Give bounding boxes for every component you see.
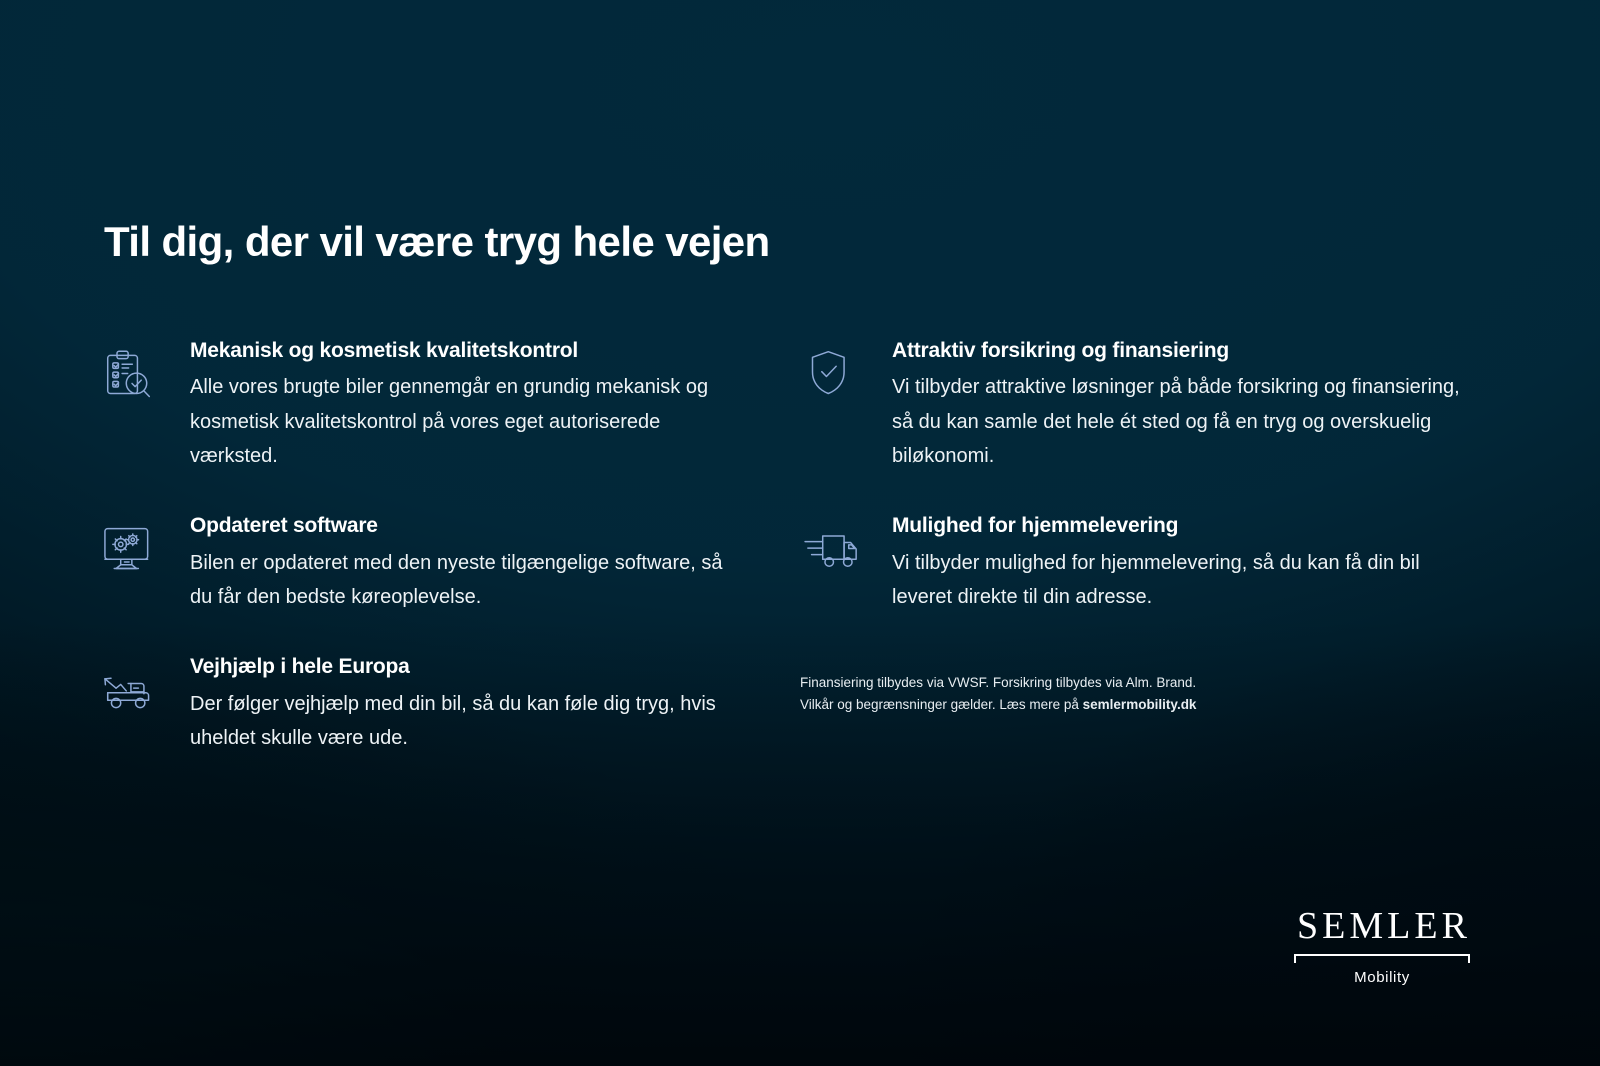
- page-title: Til dig, der vil være tryg hele vejen: [104, 218, 770, 266]
- feature-title: Mulighed for hjemmelevering: [892, 513, 1460, 539]
- disclaimer-line-2: Vilkår og begrænsninger gælder. Læs mere…: [800, 694, 1320, 716]
- semler-mobility-logo: SEMLER Mobility: [1282, 907, 1482, 986]
- feature-insurance-financing: Attraktiv forsikring og finansiering Vi …: [800, 338, 1460, 473]
- shield-check-icon: [800, 348, 864, 400]
- feature-title: Mekanisk og kosmetisk kvalitetskontrol: [190, 338, 748, 364]
- feature-title: Opdateret software: [190, 513, 748, 539]
- feature-home-delivery: Mulighed for hjemmelevering Vi tilbyder …: [800, 513, 1460, 614]
- logo-wordmark: SEMLER: [1282, 907, 1482, 945]
- monitor-gears-icon: [98, 523, 162, 575]
- feature-description: Alle vores brugte biler gennemgår en gru…: [190, 370, 748, 473]
- feature-roadside-assistance: Vejhjælp i hele Europa Der følger vejhjæ…: [98, 654, 748, 755]
- feature-description: Vi tilbyder attraktive løsninger på både…: [892, 370, 1460, 473]
- logo-rule-tick-left: [1294, 954, 1296, 963]
- disclaimer-text: Finansiering tilbydes via VWSF. Forsikri…: [800, 672, 1320, 716]
- feature-description: Bilen er opdateret med den nyeste tilgæn…: [190, 546, 748, 615]
- disclaimer-line-2-prefix: Vilkår og begrænsninger gælder. Læs mere…: [800, 697, 1083, 712]
- delivery-truck-icon: [800, 523, 864, 575]
- feature-column-left: Mekanisk og kosmetisk kvalitetskontrol A…: [98, 338, 748, 755]
- feature-description: Vi tilbyder mulighed for hjemmelevering,…: [892, 546, 1460, 615]
- logo-rule-tick-right: [1468, 954, 1470, 963]
- feature-updated-software: Opdateret software Bilen er opdateret me…: [98, 513, 748, 614]
- feature-quality-control: Mekanisk og kosmetisk kvalitetskontrol A…: [98, 338, 748, 473]
- logo-subtitle: Mobility: [1282, 969, 1482, 986]
- feature-title: Vejhjælp i hele Europa: [190, 654, 748, 680]
- clipboard-check-magnifier-icon: [98, 348, 162, 400]
- feature-description: Der følger vejhjælp med din bil, så du k…: [190, 687, 748, 756]
- feature-title: Attraktiv forsikring og finansiering: [892, 338, 1460, 364]
- promo-page: Til dig, der vil være tryg hele vejen: [0, 0, 1600, 1066]
- feature-column-right: Attraktiv forsikring og finansiering Vi …: [800, 338, 1460, 614]
- logo-divider-rule: [1294, 954, 1470, 964]
- tow-truck-icon: [98, 664, 162, 716]
- disclaimer-line-1: Finansiering tilbydes via VWSF. Forsikri…: [800, 672, 1320, 694]
- semlermobility-link[interactable]: semlermobility.dk: [1083, 697, 1197, 712]
